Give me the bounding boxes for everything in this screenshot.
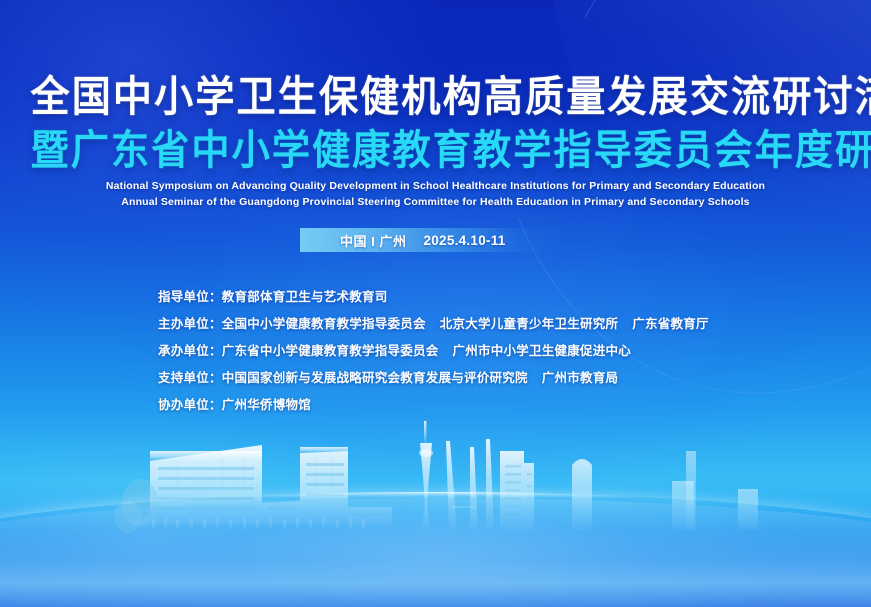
organizer-label: 协办单位： xyxy=(158,394,222,413)
far-right-towers xyxy=(672,451,758,531)
organizer-values: 教育部体育卫生与艺术教育司 xyxy=(222,286,388,305)
organizer-name: 广州市教育局 xyxy=(542,367,619,386)
city-skyline-illustration xyxy=(0,407,871,607)
organizer-name: 广州市中小学卫生健康促进中心 xyxy=(453,340,632,359)
conference-poster: 全国中小学卫生保健机构高质量发展交流研讨活动 暨广东省中小学健康教育教学指导委员… xyxy=(0,0,871,607)
organizer-label: 主办单位： xyxy=(158,313,222,332)
plaza-crowd xyxy=(152,517,365,529)
organizer-row: 协办单位：广州华侨博物馆 xyxy=(158,394,758,421)
horizon-ground-fill xyxy=(0,498,871,607)
organizer-values: 全国中小学健康教育教学指导委员会北京大学儿童青少年卫生研究所广东省教育厅 xyxy=(222,313,709,332)
organizer-values: 广东省中小学健康教育教学指导委员会广州市中小学卫生健康促进中心 xyxy=(222,340,631,359)
organizer-name: 广东省教育厅 xyxy=(632,313,709,332)
organizer-values: 广州华侨博物馆 xyxy=(222,394,311,413)
title-chinese-line-1: 全国中小学卫生保健机构高质量发展交流研讨活动 xyxy=(30,76,840,118)
organizer-name: 教育部体育卫生与艺术教育司 xyxy=(222,286,388,305)
stepped-tower xyxy=(500,451,534,531)
organizer-name: 广东省中小学健康教育教学指导委员会 xyxy=(222,340,439,359)
canton-tower xyxy=(419,421,433,531)
organizer-name: 全国中小学健康教育教学指导委员会 xyxy=(222,313,426,332)
badge-content: 中国 I 广州 2025.4.10-11 xyxy=(300,231,506,250)
organizer-name: 广州华侨博物馆 xyxy=(222,394,311,413)
organizer-values: 中国国家创新与发展战略研究会教育发展与评价研究院广州市教育局 xyxy=(222,367,619,386)
organizer-name: 北京大学儿童青少年卫生研究所 xyxy=(440,313,619,332)
badge-date-label: 2025.4.10-11 xyxy=(423,233,505,248)
organizer-label: 支持单位： xyxy=(158,367,222,386)
horizon-curve-line xyxy=(0,492,871,607)
organizer-row: 支持单位：中国国家创新与发展战略研究会教育发展与评价研究院广州市教育局 xyxy=(158,367,758,394)
title-english-line-1: National Symposium on Advancing Quality … xyxy=(0,180,871,192)
badge-location-label: 中国 I 广州 xyxy=(340,231,406,250)
organizer-list: 指导单位：教育部体育卫生与艺术教育司主办单位：全国中小学健康教育教学指导委员会北… xyxy=(158,286,758,421)
location-date-badge: 中国 I 广州 2025.4.10-11 xyxy=(300,228,562,252)
skyline-haze xyxy=(0,531,871,607)
organizer-row: 承办单位：广东省中小学健康教育教学指导委员会广州市中小学卫生健康促进中心 xyxy=(158,340,758,367)
twin-spire-towers xyxy=(446,439,494,531)
background-glow-horizon xyxy=(0,470,871,607)
organizer-label: 指导单位： xyxy=(158,286,222,305)
organizer-label: 承办单位： xyxy=(158,340,222,359)
organizer-name: 中国国家创新与发展战略研究会教育发展与评价研究院 xyxy=(222,367,528,386)
organizer-row: 主办单位：全国中小学健康教育教学指导委员会北京大学儿童青少年卫生研究所广东省教育… xyxy=(158,313,758,340)
rounded-tower xyxy=(572,459,592,531)
background-glow-bottom-left xyxy=(0,430,400,607)
title-english-line-2: Annual Seminar of the Guangdong Provinci… xyxy=(0,196,871,208)
title-chinese-line-2: 暨广东省中小学健康教育教学指导委员会年度研讨活动 xyxy=(30,130,840,171)
school-building xyxy=(114,445,392,533)
organizer-row: 指导单位：教育部体育卫生与艺术教育司 xyxy=(158,286,758,313)
